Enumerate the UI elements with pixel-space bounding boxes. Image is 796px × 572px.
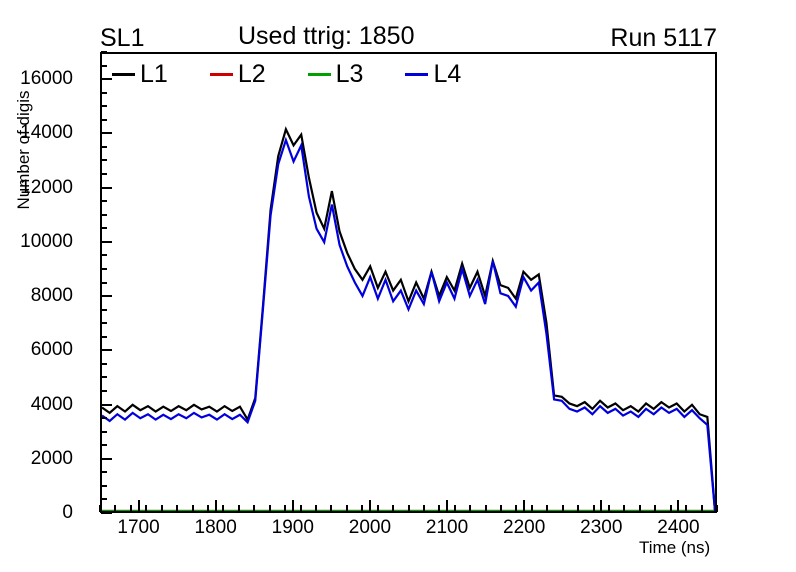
run-label: Run 5117 xyxy=(610,26,717,51)
y-axis-tick xyxy=(101,132,112,134)
y-tick-label: 12000 xyxy=(20,177,73,199)
legend-label: L1 xyxy=(140,62,168,87)
x-axis-minor-tick xyxy=(593,505,595,512)
x-axis-minor-tick xyxy=(361,505,363,512)
legend-entry-l3[interactable]: L3 xyxy=(308,62,364,87)
x-axis-minor-tick xyxy=(531,505,533,512)
y-axis-minor-tick xyxy=(101,498,107,500)
y-axis-tick xyxy=(101,295,112,297)
x-axis-minor-tick xyxy=(99,505,101,512)
x-axis-tick xyxy=(523,500,525,512)
x-tick-label: 2000 xyxy=(349,517,391,539)
legend-label: L4 xyxy=(433,62,461,87)
y-axis-tick xyxy=(101,241,112,243)
y-axis-minor-tick xyxy=(101,471,107,473)
y-axis-minor-tick xyxy=(101,282,107,284)
x-axis-minor-tick xyxy=(145,505,147,512)
x-tick-label: 2400 xyxy=(657,517,699,539)
x-tick-label: 1800 xyxy=(195,517,237,539)
y-axis-minor-tick xyxy=(101,390,107,392)
y-axis-minor-tick xyxy=(101,146,107,148)
x-axis-tick xyxy=(215,500,217,512)
chart-title: Used ttrig: 1850 xyxy=(238,24,415,49)
x-axis-minor-tick xyxy=(377,505,379,512)
y-tick-label: 4000 xyxy=(31,394,73,416)
x-axis-minor-tick xyxy=(114,505,116,512)
x-axis-minor-tick xyxy=(670,505,672,512)
pad-label: SL1 xyxy=(100,26,144,51)
y-axis-tick xyxy=(101,512,112,514)
x-axis-minor-tick xyxy=(716,505,718,512)
x-axis-minor-tick xyxy=(222,505,224,512)
y-axis-minor-tick xyxy=(101,214,107,216)
x-axis-minor-tick xyxy=(253,505,255,512)
x-axis-minor-tick xyxy=(701,505,703,512)
x-axis-minor-tick xyxy=(469,505,471,512)
y-axis-tick xyxy=(101,404,112,406)
y-axis-minor-tick xyxy=(101,376,107,378)
y-tick-label: 0 xyxy=(62,502,73,524)
x-axis-minor-tick xyxy=(392,505,394,512)
x-axis-tick xyxy=(446,500,448,512)
x-tick-label: 1700 xyxy=(117,517,159,539)
y-tick-label: 16000 xyxy=(20,68,73,90)
x-axis-minor-tick xyxy=(685,505,687,512)
x-axis-tick xyxy=(600,500,602,512)
y-tick-label: 6000 xyxy=(31,339,73,361)
y-axis-minor-tick xyxy=(101,444,107,446)
y-axis-minor-tick xyxy=(101,431,107,433)
x-axis-minor-tick xyxy=(161,505,163,512)
x-tick-label: 1900 xyxy=(272,517,314,539)
y-axis-title: Number of digis xyxy=(14,0,34,300)
y-axis-tick xyxy=(101,458,112,460)
y-axis-minor-tick xyxy=(101,65,107,67)
x-axis-tick xyxy=(138,500,140,512)
x-axis-minor-tick xyxy=(207,505,209,512)
legend-entry-l2[interactable]: L2 xyxy=(210,62,266,87)
x-axis-minor-tick xyxy=(454,505,456,512)
legend: L1L2L3L4 xyxy=(112,62,461,87)
y-axis-minor-tick xyxy=(101,227,107,229)
y-axis-minor-tick xyxy=(101,173,107,175)
x-axis-minor-tick xyxy=(562,505,564,512)
y-tick-label: 10000 xyxy=(20,231,73,253)
legend-entry-l4[interactable]: L4 xyxy=(405,62,461,87)
x-tick-label: 2100 xyxy=(426,517,468,539)
y-axis-minor-tick xyxy=(101,363,107,365)
y-axis-minor-tick xyxy=(101,92,107,94)
series-line-l1 xyxy=(102,129,715,511)
legend-entry-l1[interactable]: L1 xyxy=(112,62,168,87)
x-axis-minor-tick xyxy=(515,505,517,512)
x-axis-minor-tick xyxy=(438,505,440,512)
root-canvas: SL1 Used ttrig: 1850 Run 5117 Number of … xyxy=(0,0,796,572)
y-axis-minor-tick xyxy=(101,268,107,270)
x-axis-title: Time (ns) xyxy=(639,538,710,558)
y-axis-minor-tick xyxy=(101,417,107,419)
y-tick-label: 8000 xyxy=(31,285,73,307)
x-axis-minor-tick xyxy=(269,505,271,512)
x-axis-minor-tick xyxy=(315,505,317,512)
y-axis-minor-tick xyxy=(101,119,107,121)
x-axis-minor-tick xyxy=(284,505,286,512)
series-line-l4 xyxy=(102,140,715,511)
x-axis-minor-tick xyxy=(330,505,332,512)
x-axis-tick xyxy=(369,500,371,512)
x-axis-minor-tick xyxy=(192,505,194,512)
x-axis-minor-tick xyxy=(639,505,641,512)
x-axis-minor-tick xyxy=(608,505,610,512)
legend-swatch-l3-icon xyxy=(308,73,331,76)
y-axis-minor-tick xyxy=(101,159,107,161)
x-axis-minor-tick xyxy=(176,505,178,512)
x-axis-tick xyxy=(292,500,294,512)
x-axis-minor-tick xyxy=(485,505,487,512)
y-axis-tick xyxy=(101,349,112,351)
plot-frame xyxy=(100,52,717,513)
legend-label: L3 xyxy=(336,62,364,87)
x-axis-minor-tick xyxy=(408,505,410,512)
x-axis-minor-tick xyxy=(546,505,548,512)
y-axis-minor-tick xyxy=(101,200,107,202)
legend-swatch-l2-icon xyxy=(210,73,233,76)
x-axis-minor-tick xyxy=(130,505,132,512)
y-tick-label: 2000 xyxy=(31,448,73,470)
x-axis-minor-tick xyxy=(500,505,502,512)
y-axis-minor-tick xyxy=(101,322,107,324)
y-axis-tick xyxy=(101,78,112,80)
x-axis-minor-tick xyxy=(577,505,579,512)
y-axis-minor-tick xyxy=(101,485,107,487)
x-axis-minor-tick xyxy=(238,505,240,512)
x-tick-label: 2200 xyxy=(503,517,545,539)
x-axis-minor-tick xyxy=(623,505,625,512)
x-axis-minor-tick xyxy=(300,505,302,512)
x-axis-minor-tick xyxy=(346,505,348,512)
y-axis-minor-tick xyxy=(101,309,107,311)
x-axis-minor-tick xyxy=(423,505,425,512)
x-axis-minor-tick xyxy=(654,505,656,512)
legend-swatch-l4-icon xyxy=(405,73,428,76)
y-axis-minor-tick xyxy=(101,336,107,338)
y-axis-minor-tick xyxy=(101,254,107,256)
x-axis-tick xyxy=(677,500,679,512)
y-tick-label: 14000 xyxy=(20,122,73,144)
plot-svg xyxy=(102,54,715,511)
legend-label: L2 xyxy=(238,62,266,87)
y-axis-minor-tick xyxy=(101,51,107,53)
legend-swatch-l1-icon xyxy=(112,73,135,76)
y-axis-tick xyxy=(101,187,112,189)
y-axis-minor-tick xyxy=(101,105,107,107)
x-tick-label: 2300 xyxy=(580,517,622,539)
